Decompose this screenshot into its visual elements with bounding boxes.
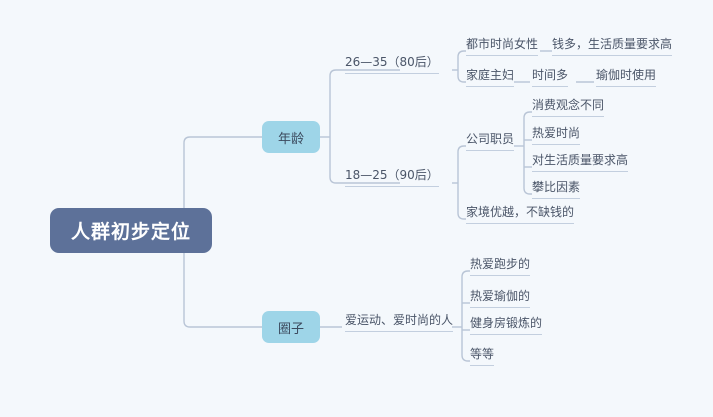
leaf-urban-fashion-women[interactable]: 都市时尚女性 — [466, 36, 538, 56]
leaf-loves-fashion[interactable]: 热爱时尚 — [532, 125, 580, 145]
leaf-age-18-25[interactable]: 18—25（90后） — [345, 167, 439, 187]
connector-root-to-circle — [184, 253, 262, 327]
leaf-loves-running[interactable]: 热爱跑步的 — [470, 256, 530, 276]
root-node[interactable]: 人群初步定位 — [50, 208, 212, 253]
branch-node-circle-label: 圈子 — [278, 318, 304, 337]
leaf-sport-fashion-people[interactable]: 爱运动、爱时尚的人 — [345, 312, 453, 332]
connector-1825-child1 — [458, 146, 466, 152]
leaf-housewife-yoga-use[interactable]: 瑜伽时使用 — [596, 67, 656, 87]
leaf-gym-exercise[interactable]: 健身房锻炼的 — [470, 315, 542, 335]
leaf-loves-yoga[interactable]: 热爱瑜伽的 — [470, 288, 530, 308]
branch-node-circle[interactable]: 圈子 — [262, 311, 320, 343]
connector-office-c4 — [524, 188, 532, 194]
root-node-label: 人群初步定位 — [71, 217, 191, 244]
connector-1825-child2 — [458, 213, 466, 219]
leaf-wealthy-family[interactable]: 家境优越，不缺钱的 — [466, 204, 574, 224]
connector-sport-c1 — [462, 271, 470, 277]
leaf-consumption-concept[interactable]: 消费观念不同 — [532, 97, 604, 117]
connector-sport-c4 — [462, 355, 470, 361]
leaf-age-26-35[interactable]: 26—35（80后） — [345, 54, 439, 74]
branch-node-age[interactable]: 年龄 — [262, 121, 320, 153]
leaf-office-worker[interactable]: 公司职员 — [466, 131, 514, 151]
leaf-urban-women-detail[interactable]: 钱多，生活质量要求高 — [552, 36, 672, 56]
connector-2635-child1 — [458, 51, 466, 57]
leaf-comparison-factor[interactable]: 攀比因素 — [532, 179, 580, 199]
mindmap-canvas: 人群初步定位 年龄 圈子 26—35（80后） 18—25（90后） 都市时尚女… — [0, 0, 713, 417]
leaf-housewife[interactable]: 家庭主妇 — [466, 67, 514, 87]
branch-node-age-label: 年龄 — [278, 128, 304, 147]
connector-2635-child2 — [458, 76, 466, 82]
leaf-housewife-free-time[interactable]: 时间多 — [532, 67, 568, 87]
connector-root-to-age — [184, 137, 262, 208]
leaf-quality-of-life[interactable]: 对生活质量要求高 — [532, 152, 628, 172]
leaf-etc[interactable]: 等等 — [470, 346, 494, 366]
connector-office-c1 — [524, 112, 532, 118]
